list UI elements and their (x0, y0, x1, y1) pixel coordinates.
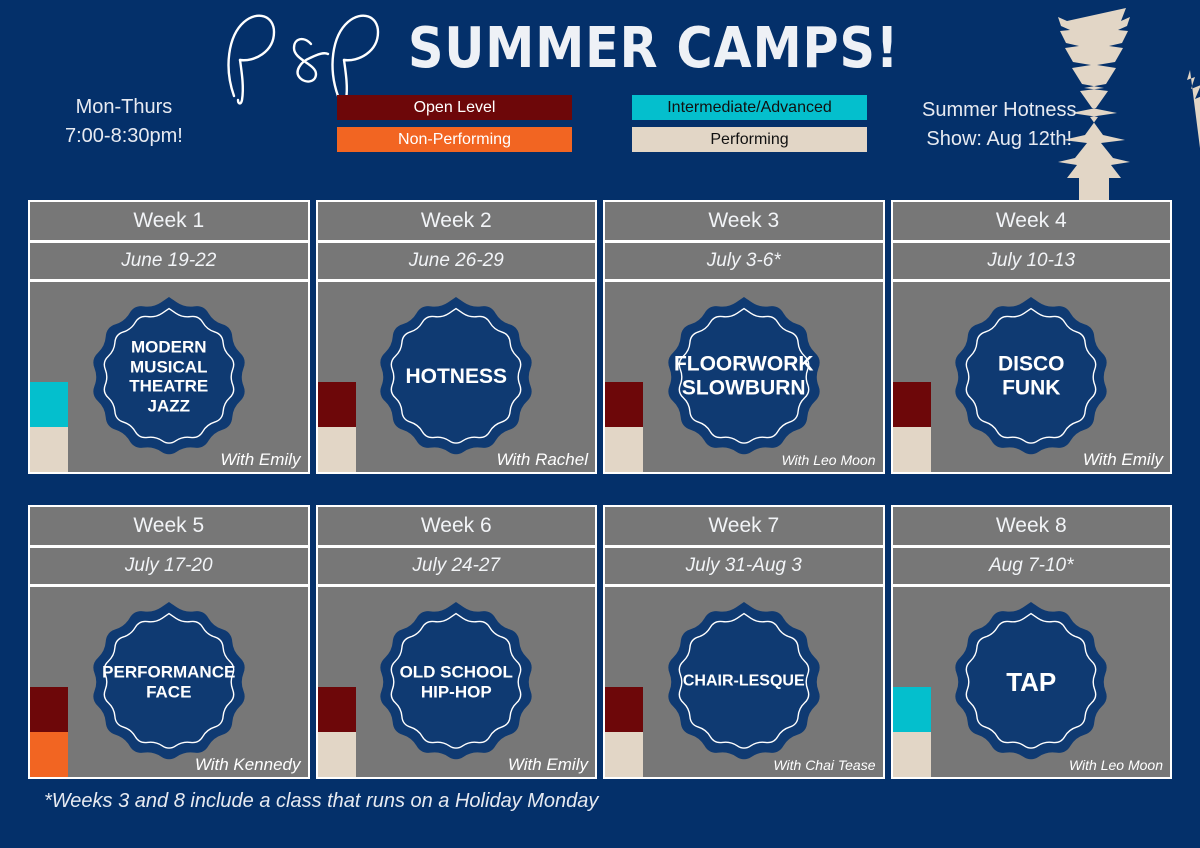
legend-chip-performing: Performing (632, 127, 867, 152)
show-info: Summer Hotness Show: Aug 12th! (922, 96, 1077, 154)
week-card-body: CHAIR-LESQUEWith Chai Tease (605, 587, 883, 777)
week-card-body: OLD SCHOOLHIP-HOPWith Emily (318, 587, 596, 777)
week-dates: July 31-Aug 3 (605, 548, 883, 584)
week-card[interactable]: Week 1June 19-22MODERNMUSICALTHEATREJAZZ… (28, 200, 310, 474)
instructor-name: With Kennedy (195, 755, 301, 775)
swatch-segment (318, 427, 356, 472)
swatch-segment (893, 382, 931, 427)
page-title: SUMMER CAMPS! (408, 16, 899, 81)
week-card[interactable]: Week 2June 26-29HOTNESSWith Rachel (316, 200, 598, 474)
legend-chip-intermediate-advanced: Intermediate/Advanced (632, 95, 867, 120)
instructor-name: With Chai Tease (773, 757, 875, 773)
swatch-segment (893, 687, 931, 732)
week-label: Week 1 (30, 202, 308, 240)
schedule-hours: 7:00-8:30pm! (65, 122, 183, 151)
swatch-segment (893, 427, 931, 472)
show-date: Show: Aug 12th! (922, 125, 1077, 154)
class-badge[interactable] (658, 291, 830, 463)
week-dates: July 10-13 (893, 243, 1171, 279)
swatch-segment (605, 382, 643, 427)
week-card[interactable]: Week 5July 17-20PERFORMANCEFACEWith Kenn… (28, 505, 310, 779)
legend-row-2: Non-Performing Performing (337, 127, 867, 152)
week-card-body: DISCOFUNKWith Emily (893, 282, 1171, 472)
week-card[interactable]: Week 7July 31-Aug 3CHAIR-LESQUEWith Chai… (603, 505, 885, 779)
swatch-segment (30, 687, 68, 732)
week-label: Week 6 (318, 507, 596, 545)
instructor-name: With Emily (220, 450, 300, 470)
swatch-segment (30, 427, 68, 472)
week-card-body: HOTNESSWith Rachel (318, 282, 596, 472)
swatch-segment (318, 732, 356, 777)
category-swatch (318, 382, 356, 472)
swatch-segment (893, 732, 931, 777)
legend: Open Level Intermediate/Advanced Non-Per… (337, 95, 867, 159)
swatch-segment (30, 382, 68, 427)
swatch-segment (318, 382, 356, 427)
week-dates: July 24-27 (318, 548, 596, 584)
swatch-segment (605, 732, 643, 777)
instructor-name: With Rachel (497, 450, 589, 470)
footnote: *Weeks 3 and 8 include a class that runs… (44, 790, 598, 813)
week-dates: July 17-20 (30, 548, 308, 584)
weeks-row-1: Week 1June 19-22MODERNMUSICALTHEATREJAZZ… (28, 200, 1172, 474)
week-card[interactable]: Week 3July 3-6*FLOORWORKSLOWBURNWith Leo… (603, 200, 885, 474)
legend-row-1: Open Level Intermediate/Advanced (337, 95, 867, 120)
class-badge[interactable] (945, 291, 1117, 463)
pp-script-logo (218, 8, 408, 108)
class-badge[interactable] (83, 596, 255, 768)
swatch-segment (605, 427, 643, 472)
poster-root: SUMMER CAMPS! Mon-Thurs 7:00-8:30pm! Sum… (0, 0, 1200, 848)
legend-chip-open-level: Open Level (337, 95, 572, 120)
weeks-row-2: Week 5July 17-20PERFORMANCEFACEWith Kenn… (28, 505, 1172, 779)
week-dates: July 3-6* (605, 243, 883, 279)
week-card-body: FLOORWORKSLOWBURNWith Leo Moon (605, 282, 883, 472)
swatch-segment (318, 687, 356, 732)
class-badge[interactable] (945, 596, 1117, 768)
week-card-body: PERFORMANCEFACEWith Kennedy (30, 587, 308, 777)
week-dates: Aug 7-10* (893, 548, 1171, 584)
class-badge[interactable] (658, 596, 830, 768)
week-card[interactable]: Week 4July 10-13DISCOFUNKWith Emily (891, 200, 1173, 474)
category-swatch (893, 687, 931, 777)
week-dates: June 19-22 (30, 243, 308, 279)
swatch-segment (605, 687, 643, 732)
week-card[interactable]: Week 8Aug 7-10*TAPWith Leo Moon (891, 505, 1173, 779)
show-name: Summer Hotness (922, 96, 1077, 125)
week-label: Week 4 (893, 202, 1171, 240)
poster-header: SUMMER CAMPS! Mon-Thurs 7:00-8:30pm! Sum… (0, 0, 1200, 190)
week-label: Week 2 (318, 202, 596, 240)
schedule-time-info: Mon-Thurs 7:00-8:30pm! (65, 93, 183, 151)
legend-chip-non-performing: Non-Performing (337, 127, 572, 152)
week-label: Week 7 (605, 507, 883, 545)
category-swatch (30, 382, 68, 472)
category-swatch (605, 382, 643, 472)
category-swatch (30, 687, 68, 777)
week-card[interactable]: Week 6July 24-27OLD SCHOOLHIP-HOPWith Em… (316, 505, 598, 779)
category-swatch (318, 687, 356, 777)
week-card-body: TAPWith Leo Moon (893, 587, 1171, 777)
instructor-name: With Leo Moon (781, 452, 875, 468)
week-label: Week 5 (30, 507, 308, 545)
instructor-name: With Emily (1083, 450, 1163, 470)
swatch-segment (30, 732, 68, 777)
instructor-name: With Emily (508, 755, 588, 775)
week-card-body: MODERNMUSICALTHEATREJAZZWith Emily (30, 282, 308, 472)
week-label: Week 3 (605, 202, 883, 240)
instructor-name: With Leo Moon (1069, 757, 1163, 773)
schedule-days: Mon-Thurs (65, 93, 183, 122)
week-dates: June 26-29 (318, 243, 596, 279)
category-swatch (893, 382, 931, 472)
class-badge[interactable] (370, 596, 542, 768)
class-badge[interactable] (83, 291, 255, 463)
category-swatch (605, 687, 643, 777)
week-label: Week 8 (893, 507, 1171, 545)
class-badge[interactable] (370, 291, 542, 463)
